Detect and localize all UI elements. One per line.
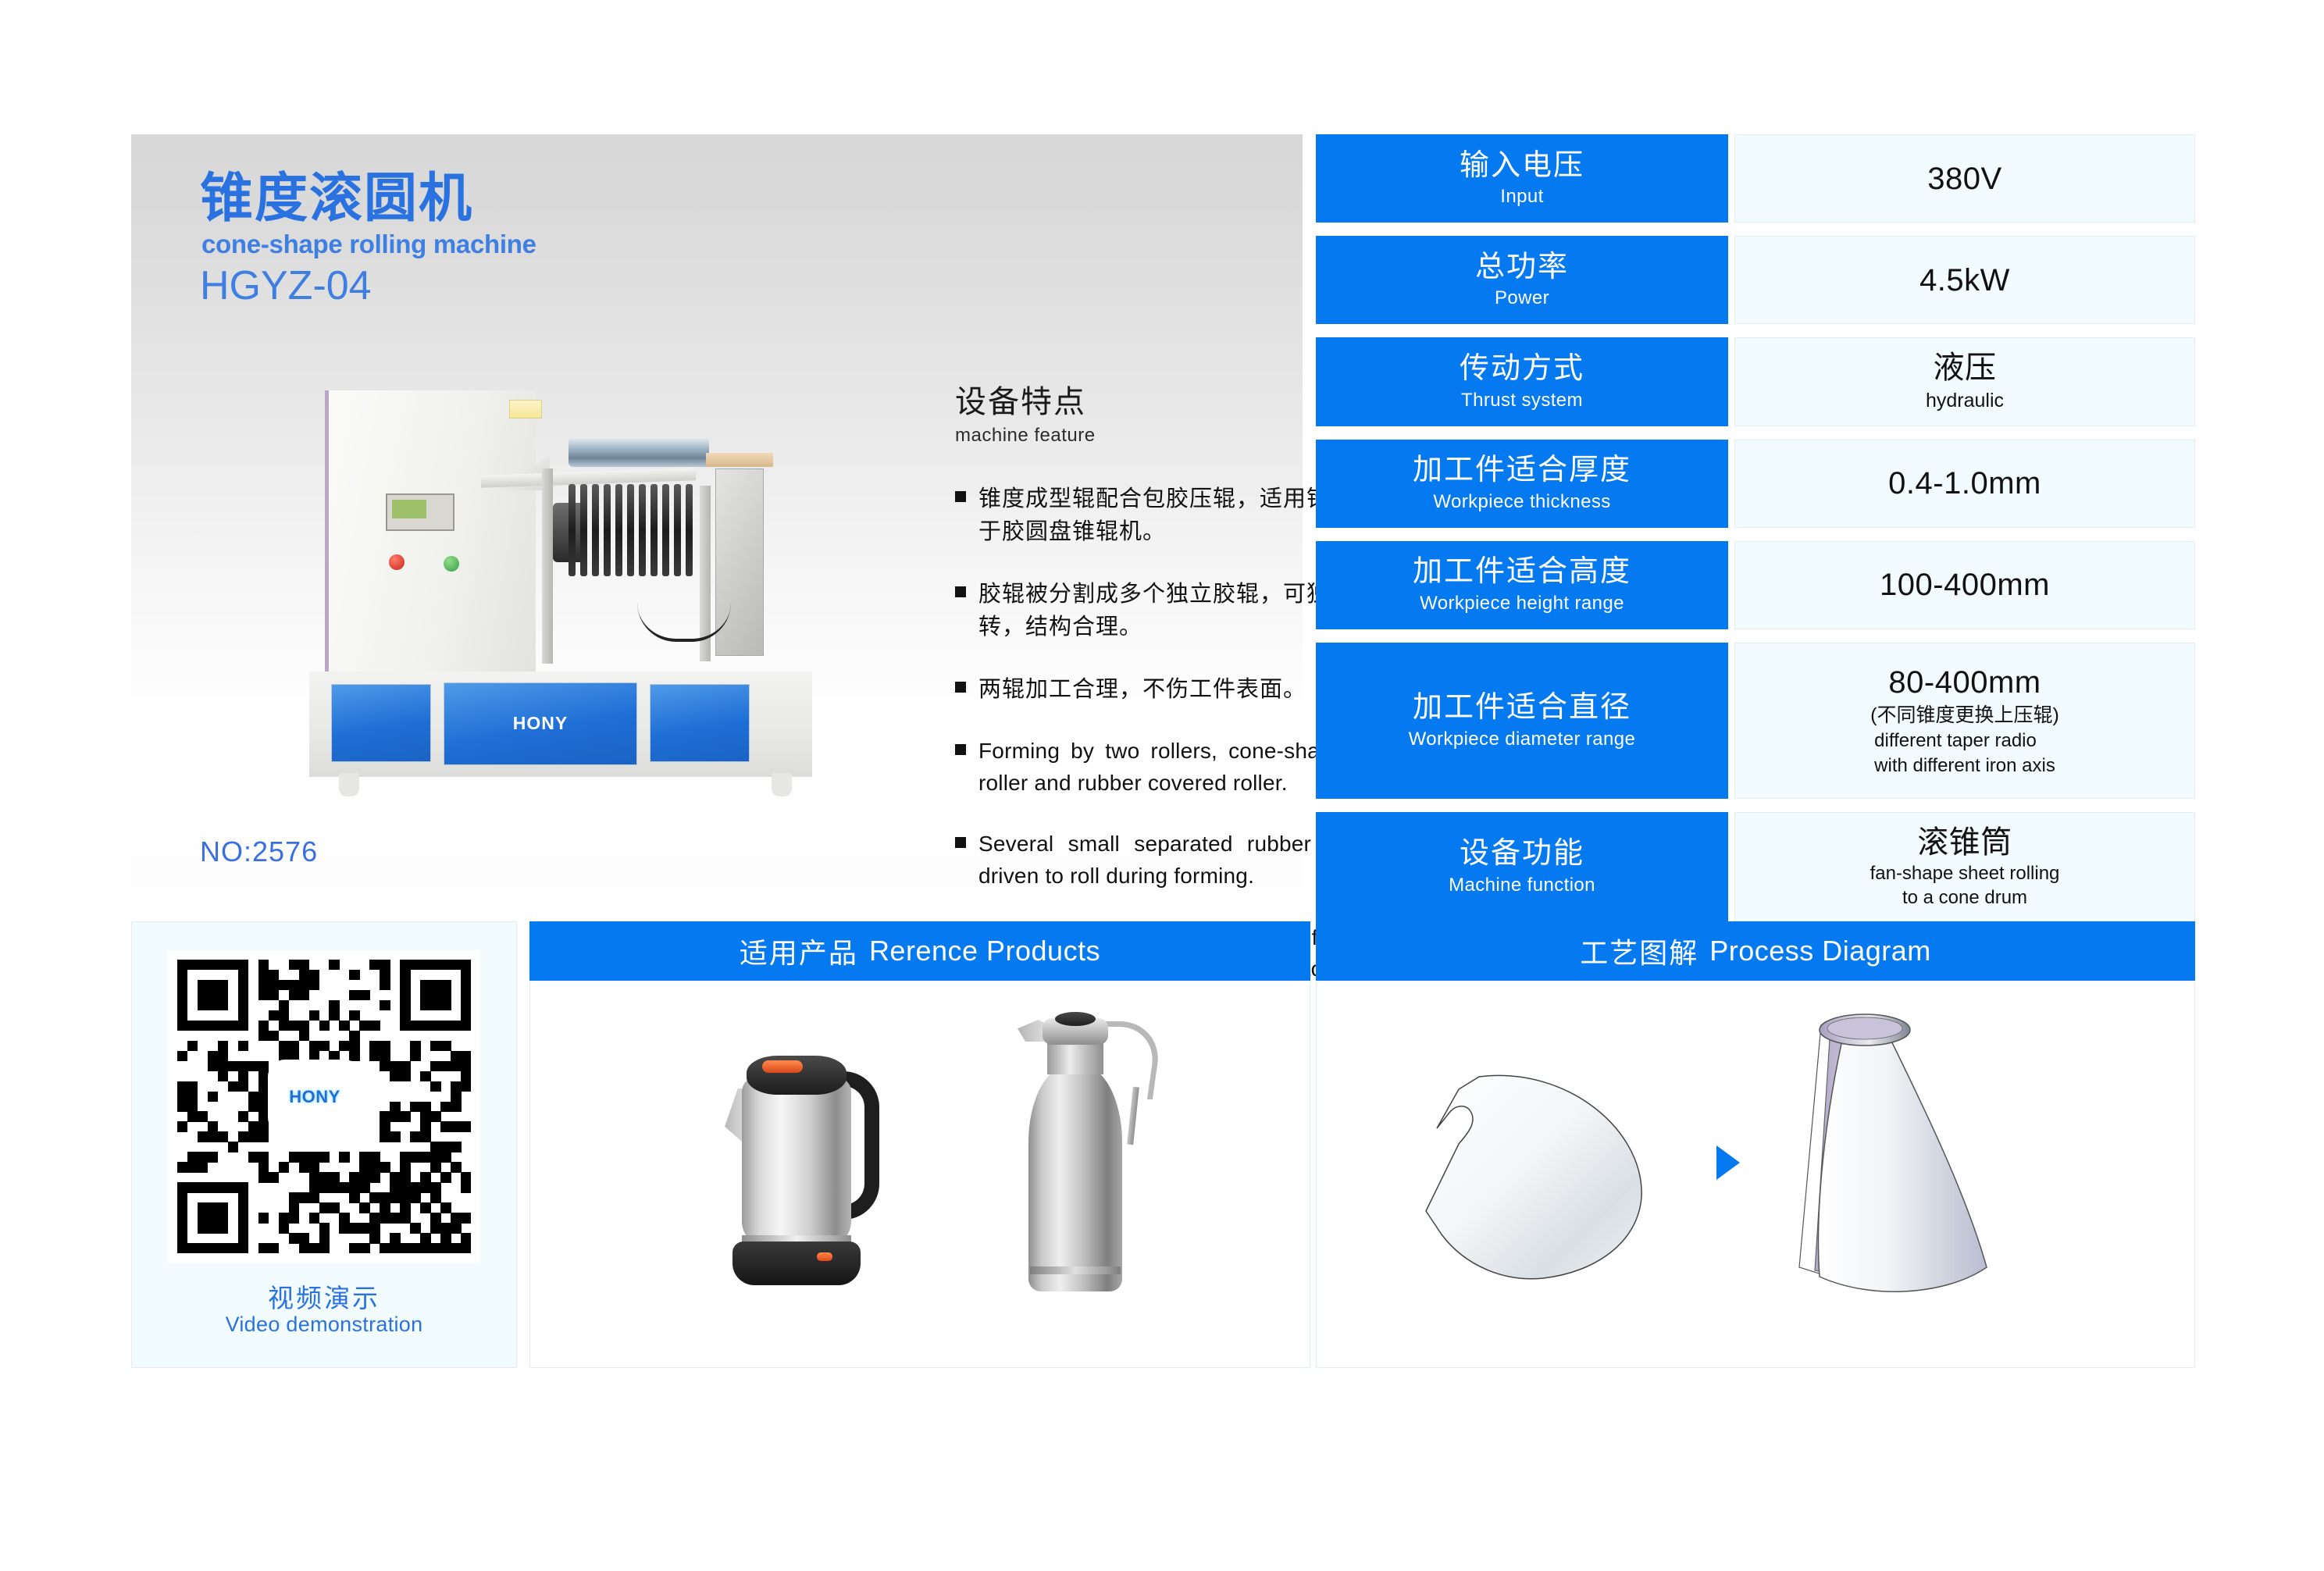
process-diagram-panel: 工艺图解 Process Diagram	[1316, 921, 2195, 1368]
reference-products-header: 适用产品 Rerence Products	[529, 921, 1310, 981]
qr-caption-en: Video demonstration	[132, 1313, 516, 1337]
spec-value-main: 0.4-1.0mm	[1888, 465, 2041, 502]
spec-row-workpiece-thickness: 加工件适合厚度 Workpiece thickness 0.4-1.0mm	[1316, 440, 2195, 528]
header-title-en: Rerence Products	[869, 935, 1100, 967]
spec-label-en: Machine function	[1449, 875, 1595, 896]
spec-label-en: Power	[1495, 287, 1549, 309]
spec-label: 输入电压 Input	[1316, 134, 1728, 223]
reference-products-body	[530, 981, 1310, 1367]
warning-label-icon	[509, 400, 542, 419]
spec-label-zh: 设备功能	[1460, 837, 1584, 871]
spec-value-main: 4.5kW	[1919, 262, 2010, 299]
spec-row-power: 总功率 Power 4.5kW	[1316, 236, 2195, 324]
serial-number: NO:2576	[200, 835, 318, 868]
spec-row-machine-function: 设备功能 Machine function 滚锥筒 fan-shape shee…	[1316, 812, 2195, 921]
spec-value-sub2: different taper radio with different iro…	[1874, 729, 2055, 777]
vacuum-thermos-flask-icon	[991, 1009, 1163, 1321]
spec-value-main: 80-400mm	[1888, 664, 2041, 701]
spec-row-workpiece-diameter: 加工件适合直径 Workpiece diameter range 80-400m…	[1316, 643, 2195, 799]
cone-drum-icon	[1793, 1010, 2074, 1322]
qr-caption-zh: 视频演示	[132, 1277, 516, 1315]
cabinet-door-left-icon	[331, 684, 431, 762]
spec-label-en: Workpiece height range	[1420, 593, 1624, 615]
page-title-zh: 锥度滚圆机	[200, 172, 473, 225]
hony-logo-icon: HONY	[268, 1060, 362, 1135]
video-qr-panel[interactable]: HONY 视频演示 Video demonstration	[131, 921, 517, 1368]
start-button-icon	[444, 556, 459, 572]
bullet-square-icon	[955, 491, 966, 502]
header-title-zh: 工艺图解	[1580, 931, 1698, 971]
spec-value-sub: fan-shape sheet rolling	[1870, 861, 2060, 885]
spec-value: 380V	[1734, 134, 2195, 223]
spec-label-zh: 总功率	[1475, 251, 1569, 285]
machine-foot-right-icon	[772, 773, 792, 796]
spec-value-sub2: to a cone drum	[1902, 885, 2027, 910]
feature-text: 两辊加工合理，不伤工件表面。	[978, 673, 1306, 706]
spec-value-main: 液压	[1934, 349, 1997, 387]
hero-panel: 锥度滚圆机 cone-shape rolling machine HGYZ-04…	[131, 134, 1303, 890]
spec-row-workpiece-height: 加工件适合高度 Workpiece height range 100-400mm	[1316, 541, 2195, 629]
hmi-display-icon	[386, 493, 454, 531]
left-column-icon	[542, 468, 553, 664]
spec-label: 加工件适合直径 Workpiece diameter range	[1316, 643, 1728, 799]
cabinet-door-right-icon	[650, 684, 750, 762]
process-diagram-header: 工艺图解 Process Diagram	[1316, 921, 2195, 981]
control-cabinet-icon	[325, 390, 536, 676]
bullet-square-icon	[955, 744, 966, 755]
electric-kettle-icon	[722, 1040, 878, 1298]
spec-label-en: Workpiece diameter range	[1409, 729, 1636, 750]
top-bracket-icon	[706, 453, 773, 467]
bullet-square-icon	[955, 837, 966, 848]
iron-roller-icon	[569, 437, 709, 467]
machine-foot-left-icon	[339, 773, 359, 796]
header-title-zh: 适用产品	[740, 931, 858, 971]
page-title-en: cone-shape rolling machine	[201, 231, 536, 257]
spec-row-input-voltage: 输入电压 Input 380V	[1316, 134, 2195, 223]
spec-value-main: 380V	[1927, 160, 2001, 198]
spec-label-en: Workpiece thickness	[1433, 491, 1610, 513]
reference-products-panel: 适用产品 Rerence Products	[529, 921, 1310, 1368]
spec-label: 总功率 Power	[1316, 236, 1728, 324]
spec-label: 加工件适合厚度 Workpiece thickness	[1316, 440, 1728, 528]
spec-label-en: Thrust system	[1461, 390, 1583, 411]
spec-label: 设备功能 Machine function	[1316, 812, 1728, 921]
fan-shape-sheet-icon	[1410, 1044, 1668, 1286]
emergency-stop-button-icon	[389, 554, 405, 570]
machine-brand-logo: HONY	[444, 712, 637, 734]
spec-value-main: 100-400mm	[1880, 566, 2050, 604]
spec-value: 滚锥筒 fan-shape sheet rolling to a cone dr…	[1734, 812, 2195, 921]
spec-label: 传动方式 Thrust system	[1316, 337, 1728, 426]
product-spec-sheet: 锥度滚圆机 cone-shape rolling machine HGYZ-04…	[0, 0, 2324, 1571]
hony-logo-text: HONY	[289, 1087, 340, 1107]
spec-value: 0.4-1.0mm	[1734, 440, 2195, 528]
qr-code[interactable]: HONY	[168, 950, 480, 1263]
spec-label-zh: 输入电压	[1460, 149, 1584, 183]
bullet-square-icon	[955, 586, 966, 597]
spec-value: 80-400mm (不同锥度更换上压辊) different taper rad…	[1734, 643, 2195, 799]
process-arrow-icon	[1716, 1145, 1740, 1180]
spec-label-zh: 加工件适合厚度	[1413, 454, 1631, 488]
rubber-rollers-icon	[569, 484, 693, 576]
spec-label-zh: 加工件适合直径	[1413, 691, 1631, 725]
model-number: HGYZ-04	[200, 265, 372, 306]
spec-value: 液压 hydraulic	[1734, 337, 2195, 426]
header-title-en: Process Diagram	[1709, 935, 1931, 967]
bullet-square-icon	[955, 682, 966, 693]
machine-photo: HONY	[294, 369, 840, 806]
spec-value-main: 滚锥筒	[1917, 824, 2012, 861]
spec-value-sub: (不同锥度更换上压辊)	[1870, 703, 2059, 729]
spec-label: 加工件适合高度 Workpiece height range	[1316, 541, 1728, 629]
spec-value-sub: hydraulic	[1926, 388, 2004, 415]
hydraulic-housing-icon	[715, 468, 764, 656]
specification-table: 输入电压 Input 380V 总功率 Power 4.5kW 传动方式 Thr…	[1316, 134, 2195, 935]
spec-row-thrust-system: 传动方式 Thrust system 液压 hydraulic	[1316, 337, 2195, 426]
spec-label-zh: 传动方式	[1460, 352, 1584, 387]
process-diagram-body	[1317, 981, 2194, 1367]
spec-label-zh: 加工件适合高度	[1413, 555, 1631, 590]
spec-label-en: Input	[1500, 186, 1543, 208]
spec-value: 4.5kW	[1734, 236, 2195, 324]
spec-value: 100-400mm	[1734, 541, 2195, 629]
